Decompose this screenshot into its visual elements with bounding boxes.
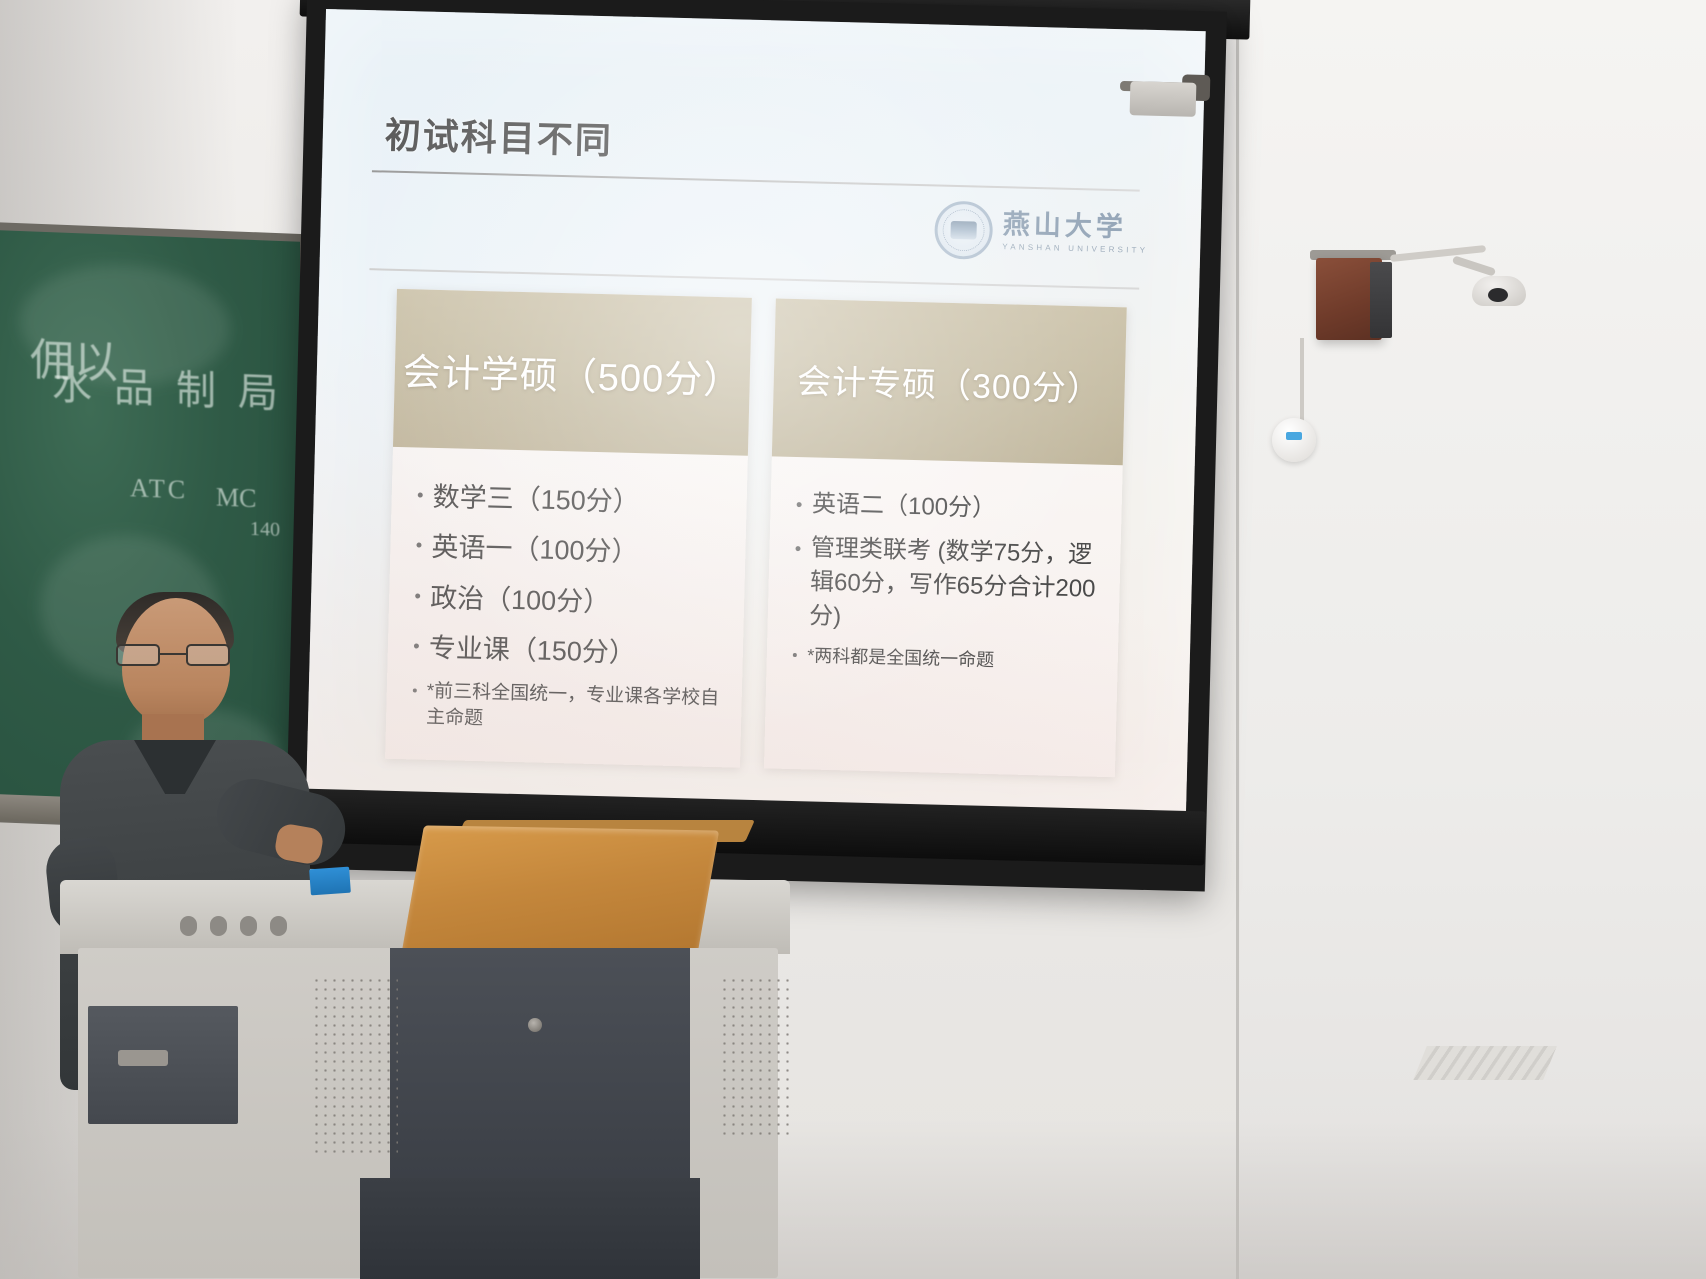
podium-speaker-left [312,976,398,1156]
bullet-dot-icon [793,653,797,657]
list-item: 英语一（100分） [416,528,730,574]
bullet-text: 英语一（100分） [431,528,639,572]
list-item: 数学三（150分） [417,477,731,523]
chalk-line-2: ATC [130,473,188,505]
bullet-dot-icon [797,502,802,507]
lens-right [186,644,230,666]
lectern-podium [60,828,790,1279]
vent-hole [270,916,287,936]
logo-english-name: YANSHAN UNIVERSITY [1002,242,1148,255]
bullet-text: 英语二（100分） [812,487,997,526]
bullet-dot-icon [415,593,420,598]
ceiling-fixture [1130,81,1197,117]
wall-speaker-face [1370,262,1392,338]
card-heading-text: 会计学硕（500分） [402,341,743,405]
bullet-dot-icon [416,543,421,548]
list-item-note: *两科都是全国统一命题 [793,643,1102,675]
podium-equipment-panel [390,948,690,1178]
bullet-text: 管理类联考 (数学75分，逻辑60分，写作65分合计200分) [809,532,1105,642]
list-item: 管理类联考 (数学75分，逻辑60分，写作65分合计200分) [794,531,1105,641]
chalk-line-1: 水 品 制 局 [52,352,284,419]
bullet-dot-icon [796,546,801,551]
eyeglasses-icon [114,644,238,666]
bullet-text: 政治（100分） [430,578,611,621]
camera-lens-icon [1488,288,1508,302]
logo-text-block: 燕山大学 YANSHAN UNIVERSITY [1002,211,1149,255]
bullet-text: 数学三（150分） [432,478,640,522]
bullet-dot-icon [414,643,419,648]
seal-emblem-icon [950,221,976,240]
logo-chinese-name: 燕山大学 [1003,211,1150,242]
podium-speaker-right [720,976,790,1136]
list-item: 英语二（100分） [797,487,1106,529]
card-body-academic: 数学三（150分） 英语一（100分） 政治（100分） 专业课（150分） [385,447,748,768]
header-divider [369,268,1139,289]
list-item-note: *前三科全国统一，专业课各学校自主命题 [412,679,727,738]
wall-cable [1300,338,1304,422]
list-item: 专业课（150分） [413,628,727,674]
vent-hole [210,916,227,936]
chalk-line-4: 140 [250,518,280,542]
card-body-professional: 英语二（100分） 管理类联考 (数学75分，逻辑60分，写作65分合计200分… [764,456,1122,777]
bullet-dot-icon [413,689,417,693]
floor-vent [1413,1046,1557,1080]
drawer-handle[interactable] [118,1050,168,1066]
wall-seam [1236,0,1239,1279]
bullet-dot-icon [418,492,423,497]
card-heading-text: 会计专硕（300分） [797,354,1103,411]
wall-right-panel [1240,0,1706,1279]
podium-vent-holes [180,916,290,936]
slide-title: 初试科目不同 [384,107,613,165]
university-seal-icon [934,200,993,259]
podium-lock-icon[interactable] [528,1018,542,1032]
glasses-bridge [160,653,186,655]
title-underline [372,170,1140,191]
lens-left [116,644,160,666]
sensor-led-icon [1286,432,1302,440]
projected-slide: 初试科目不同 燕山大学 YANSHAN UNIVERSITY 会计学硕（500分… [306,9,1206,813]
card-academic-master: 会计学硕（500分） 数学三（150分） 英语一（100分） 政治（100分） [385,289,752,768]
chalk-line-3: MC [216,483,256,515]
card-header-academic: 会计学硕（500分） [393,289,752,456]
bullet-note-text: *前三科全国统一，专业课各学校自主命题 [426,679,727,738]
blue-marker-tape [309,867,351,896]
podium-base [360,1178,700,1279]
university-logo: 燕山大学 YANSHAN UNIVERSITY [934,200,1149,263]
list-item: 政治（100分） [415,578,729,624]
lecture-hall-photo: 佣以 水 品 制 局 ATC MC 140 初试科目不同 燕山大学 YANSHA… [0,0,1706,1279]
podium-wood-panel [401,825,719,962]
bullet-text: 专业课（150分） [428,629,636,673]
vent-hole [180,916,197,936]
vent-hole [240,916,257,936]
comparison-cards: 会计学硕（500分） 数学三（150分） 英语一（100分） 政治（100分） [385,289,1127,777]
bullet-note-text: *两科都是全国统一命题 [807,644,995,673]
card-header-professional: 会计专硕（300分） [772,298,1126,465]
card-professional-master: 会计专硕（300分） 英语二（100分） 管理类联考 (数学75分，逻辑60分，… [764,298,1126,777]
wall-sensor [1272,418,1316,462]
